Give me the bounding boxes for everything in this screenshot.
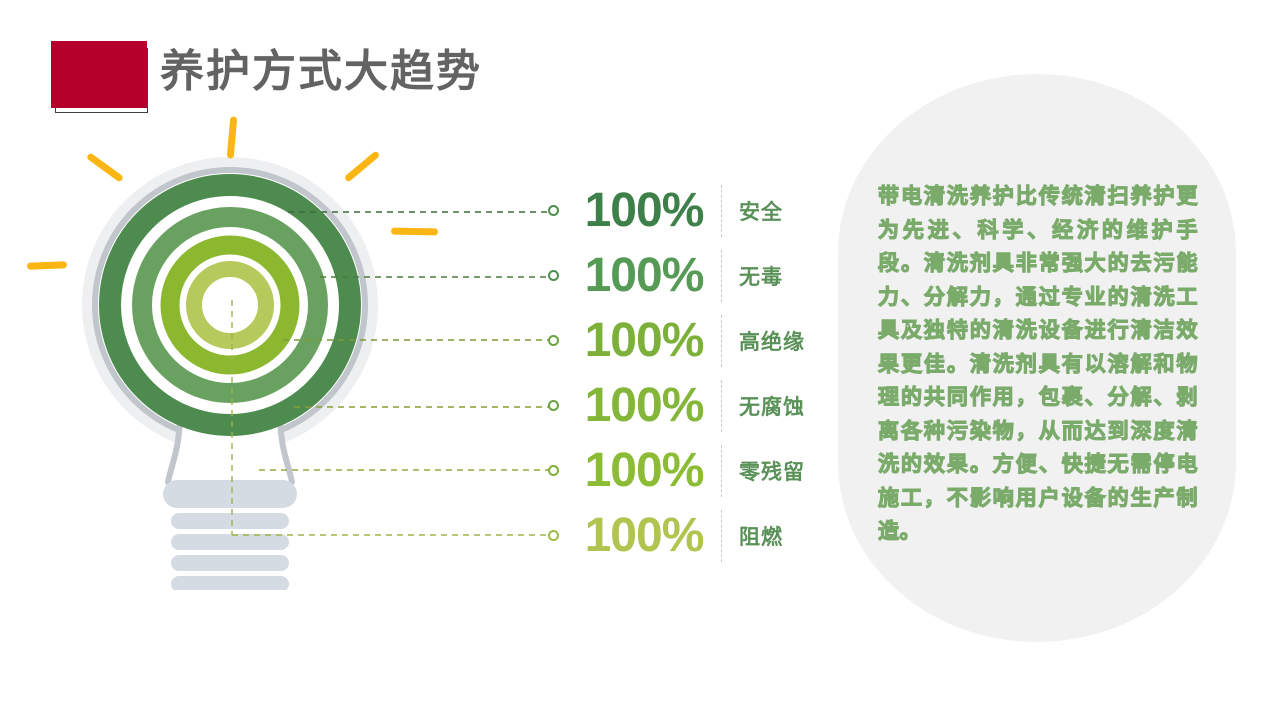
stat-row[interactable]: 100% 无腐蚀 bbox=[548, 373, 818, 438]
stat-value: 100% bbox=[569, 512, 719, 560]
stat-marker-dot bbox=[548, 205, 559, 216]
stat-divider bbox=[721, 315, 723, 367]
stat-marker-dot bbox=[548, 530, 559, 541]
stat-row[interactable]: 100% 安全 bbox=[548, 178, 818, 243]
stat-divider bbox=[721, 380, 723, 432]
stat-marker-dot bbox=[548, 270, 559, 281]
title-accent-square bbox=[51, 41, 147, 108]
stat-marker-dot bbox=[548, 335, 559, 346]
stat-label: 安全 bbox=[739, 196, 783, 226]
stat-value: 100% bbox=[569, 187, 719, 235]
stat-marker-dot bbox=[548, 465, 559, 476]
info-paragraph: 带电清洗养护比传统清扫养护更为先进、科学、经济的维护手段。清洗剂具非常强大的去污… bbox=[878, 180, 1198, 549]
stat-row[interactable]: 100% 阻燃 bbox=[548, 503, 818, 568]
stat-label: 阻燃 bbox=[739, 521, 783, 551]
stat-value: 100% bbox=[569, 382, 719, 430]
stat-divider bbox=[721, 445, 723, 497]
stat-divider bbox=[721, 250, 723, 302]
stat-label: 无毒 bbox=[739, 261, 783, 291]
page-title: 养护方式大趋势 bbox=[160, 40, 482, 104]
stat-value: 100% bbox=[569, 317, 719, 365]
stats-list: 100% 安全 100% 无毒 100% 高绝缘 100% 无腐蚀 100% bbox=[548, 178, 818, 568]
stat-label: 零残留 bbox=[739, 456, 805, 486]
bulb-ray-right bbox=[391, 228, 438, 236]
stat-row[interactable]: 100% 无毒 bbox=[548, 243, 818, 308]
stat-divider bbox=[721, 185, 723, 237]
stat-value: 100% bbox=[569, 447, 719, 495]
stat-marker-dot bbox=[548, 400, 559, 411]
bulb-ray-left bbox=[27, 261, 67, 269]
stat-divider bbox=[721, 510, 723, 562]
slide-canvas: 养护方式大趋势 bbox=[0, 0, 1283, 721]
stat-label: 高绝缘 bbox=[739, 326, 805, 356]
stat-row[interactable]: 100% 零残留 bbox=[548, 438, 818, 503]
lightbulb-icon bbox=[60, 110, 460, 590]
stat-value: 100% bbox=[569, 252, 719, 300]
stat-row[interactable]: 100% 高绝缘 bbox=[548, 308, 818, 373]
stat-label: 无腐蚀 bbox=[739, 391, 805, 421]
